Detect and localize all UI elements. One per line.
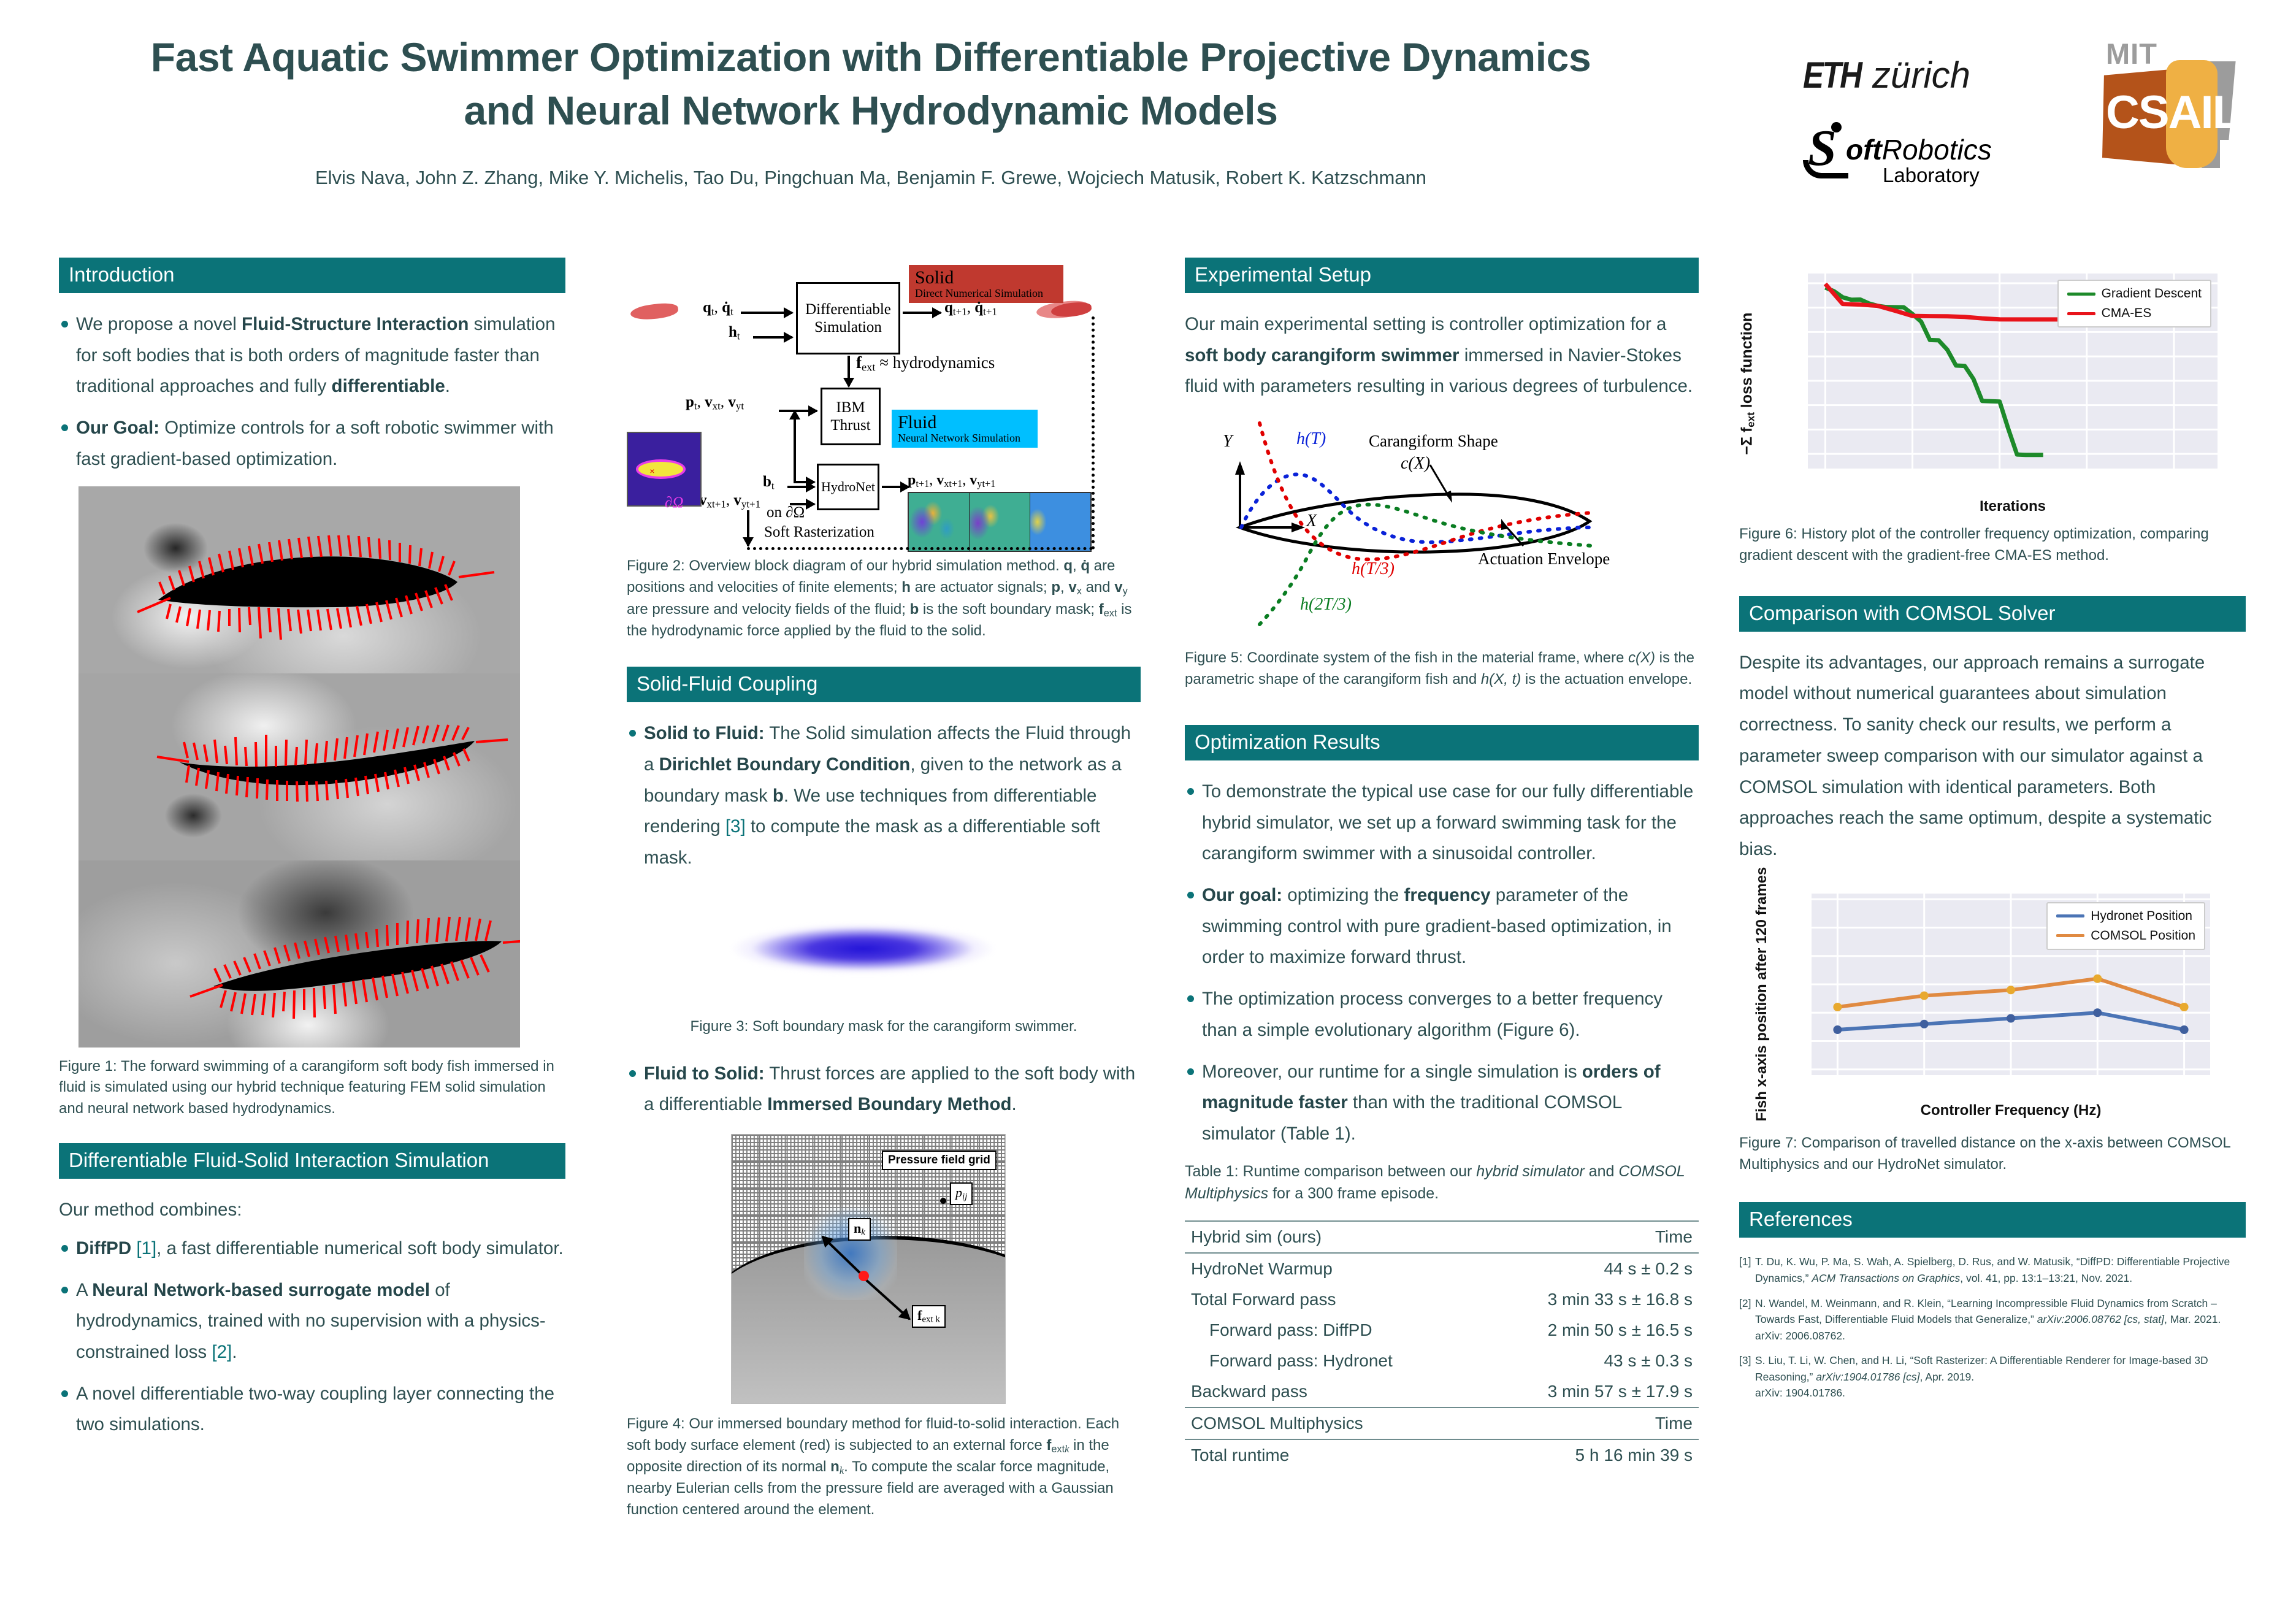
tag-solid-subtitle: Direct Numerical Simulation <box>915 288 1057 299</box>
table-cell-value: 5 h 16 min 39 s <box>1481 1439 1699 1471</box>
list-item: [1] T. Du, K. Wu, P. Ma, S. Wah, A. Spie… <box>1739 1254 2246 1286</box>
eth-zurich-logo: ETHzürich <box>1803 54 1970 96</box>
srl-s-glyph: S <box>1808 118 1837 178</box>
table-header-cell: COMSOL Multiphysics <box>1185 1408 1481 1439</box>
dfsi-bullets: DiffPD [1], a fast differentiable numeri… <box>59 1233 565 1441</box>
bullet-bold-2: frequency <box>1404 885 1491 905</box>
table-row: HydroNet Warmup 44 s ± 0.2 s <box>1185 1253 1699 1284</box>
ref-arxiv: arXiv: 2006.08762. <box>1755 1330 1845 1342</box>
legend-swatch <box>2056 914 2084 917</box>
label-h-2T-3: h(2T/3) <box>1300 595 1352 615</box>
section-heading-optresults: Optimization Results <box>1185 725 1699 760</box>
label-h-T-3: h(T/3) <box>1352 559 1395 579</box>
srl-wordmark: oftRobotics <box>1846 133 1992 166</box>
label-soft-rasterization: Soft Rasterization <box>764 524 874 541</box>
boundary-mask-image: × <box>627 432 702 507</box>
legend-swatch <box>2067 312 2095 315</box>
table-cell-label: Total runtime <box>1185 1439 1481 1471</box>
figure-1-image <box>78 486 520 1048</box>
legend-entry-hydronet: Hydronet Position <box>2056 909 2195 924</box>
reference-list: [1] T. Du, K. Wu, P. Ma, S. Wah, A. Spie… <box>1739 1254 2246 1401</box>
table-header-cell: Hybrid sim (ours) <box>1185 1221 1481 1253</box>
label-b-input: bt <box>763 473 775 492</box>
introduction-bullets: We propose a novel Fluid-Structure Inter… <box>59 309 565 475</box>
bullet-bold: Fluid to Solid: <box>644 1063 765 1084</box>
figure-7-legend: Hydronet Position COMSOL Position <box>2046 902 2205 950</box>
citation-link-1[interactable]: [1] <box>136 1238 156 1258</box>
label-h-input: ht <box>729 324 740 342</box>
box-differentiable-simulation: DifferentiableSimulation <box>796 282 900 354</box>
grid-title-label: Pressure field grid <box>882 1151 997 1170</box>
figure-6-ylabel: −Σ fext loss function <box>1738 286 1757 482</box>
figure-5-caption: Figure 5: Coordinate system of the fish … <box>1185 648 1699 691</box>
label-v-boundary: vxt+1, vyt+1 <box>699 492 760 510</box>
coupling-bullets-bottom: Fluid to Solid: Thrust forces are applie… <box>627 1059 1141 1120</box>
optresults-bullets: To demonstrate the typical use case for … <box>1185 776 1699 1150</box>
bullet-text-end: . <box>445 376 450 396</box>
table-cell-label: Total Forward pass <box>1185 1284 1481 1315</box>
label-domega: ∂Ω <box>665 494 683 511</box>
figure-6-xlabel: Iterations <box>1808 498 2218 515</box>
column-2: DifferentiableSimulation IBMThrust Hydro… <box>627 258 1141 1521</box>
list-item: Our Goal: Optimize controls for a soft r… <box>59 413 565 475</box>
figure-7-xlabel: Controller Frequency (Hz) <box>1812 1102 2210 1119</box>
legend-label: Gradient Descent <box>2102 286 2202 301</box>
ref-number: [2] <box>1739 1295 1751 1312</box>
bullet-bold: Solid to Fluid: <box>644 723 765 743</box>
bullet-text-post: . <box>232 1342 237 1362</box>
table-cell-label: Backward pass <box>1185 1376 1481 1408</box>
box-label: IBMThrust <box>830 399 870 435</box>
figure-4-caption: Figure 4: Our immersed boundary method f… <box>627 1414 1141 1521</box>
figure-3-caption: Figure 3: Soft boundary mask for the car… <box>627 1016 1141 1038</box>
bullet-bold-2: differentiable <box>332 376 445 396</box>
figure-7-plot-area: 100105110115120125130 23456 Hydronet Pos… <box>1812 894 2210 1075</box>
table-1-caption: Table 1: Runtime comparison between our … <box>1185 1160 1699 1205</box>
box-label: DifferentiableSimulation <box>805 301 891 337</box>
fluid-panel-vx <box>970 493 1030 551</box>
srl-subtitle: Laboratory <box>1883 164 1980 187</box>
table-header-cell: Time <box>1481 1408 1699 1439</box>
label-f-ext-k: fext k <box>912 1305 946 1328</box>
table-cell-value: 43 s ± 0.3 s <box>1481 1346 1699 1376</box>
figure-3-image <box>627 884 1141 1016</box>
figure-5-image: Y X h(T) h(T/3) h(2T/3) Carangiform Shap… <box>1185 418 1699 645</box>
arrow-soft-rasterization <box>747 510 749 546</box>
ref-arxiv: arXiv: 1904.01786. <box>1755 1387 1845 1399</box>
table-cell-label: Forward pass: DiffPD <box>1185 1315 1481 1346</box>
experimental-text: Our main experimental setting is control… <box>1185 309 1699 402</box>
arrow-hydronet-to-fluid <box>882 486 909 488</box>
box-hydronet: HydroNet <box>817 464 879 510</box>
tag-fluid-subtitle: Neural Network Simulation <box>898 432 1031 444</box>
bullet-bold-3: b <box>773 786 784 806</box>
label-pv-input: pt, vxt, vyt <box>686 394 744 412</box>
legend-label: Hydronet Position <box>2091 909 2192 924</box>
tag-solid: Solid Direct Numerical Simulation <box>909 265 1063 303</box>
label-fluid-outputs: pt+1, vxt+1, vyt+1 <box>908 472 995 490</box>
list-item: [2] N. Wandel, M. Weinmann, and R. Klein… <box>1739 1295 2246 1344</box>
label-fext-hydrodynamics: fext ≈ hydrodynamics <box>856 353 995 374</box>
arrow-diffsim-to-output <box>903 312 941 314</box>
fish-icon-input <box>630 302 679 321</box>
section-heading-dfsi: Differentiable Fluid-Solid Interaction S… <box>59 1143 565 1179</box>
list-item: Moreover, our runtime for a single simul… <box>1185 1057 1699 1150</box>
legend-swatch <box>2056 934 2084 937</box>
logo-group: ETHzürich S oftRobotics Laboratory MIT C… <box>1766 12 2275 215</box>
column-4: −Σ fext loss function −3.72−3.74−3.76−3.… <box>1739 258 2246 1410</box>
section-heading-coupling: Solid-Fluid Coupling <box>627 667 1141 702</box>
bullet-text-pre: A <box>76 1280 92 1300</box>
feedback-line-vertical <box>1092 316 1095 550</box>
label-p-ij: pij <box>950 1182 973 1205</box>
figure-2-diagram: DifferentiableSimulation IBMThrust Hydro… <box>627 258 1141 552</box>
bullet-bold: Fluid-Structure Interaction <box>242 314 469 334</box>
table-header-row-2: COMSOL Multiphysics Time <box>1185 1408 1699 1439</box>
citation-link-3[interactable]: [3] <box>725 816 746 837</box>
bullet-text: , a fast differentiable numerical soft b… <box>156 1238 564 1258</box>
list-item: [3] S. Liu, T. Li, W. Chen, and H. Li, “… <box>1739 1352 2246 1401</box>
pressure-sample-point <box>940 1198 946 1204</box>
coupling-bullets-top: Solid to Fluid: The Solid simulation aff… <box>627 718 1141 874</box>
table-header-cell: Time <box>1481 1221 1699 1253</box>
bullet-bold-2: Dirichlet Boundary Condition <box>659 754 911 775</box>
label-actuation-envelope: Actuation Envelope <box>1478 550 1610 569</box>
dfsi-lead-text: Our method combines: <box>59 1195 565 1226</box>
label-axis-X: X <box>1306 511 1317 531</box>
list-item: The optimization process converges to a … <box>1185 984 1699 1046</box>
poster-root: Fast Aquatic Swimmer Optimization with D… <box>0 0 2296 1624</box>
bullet-bold: Our Goal: <box>76 418 159 438</box>
table-cell-value: 44 s ± 0.2 s <box>1481 1253 1699 1284</box>
table-cell-label: HydroNet Warmup <box>1185 1253 1481 1284</box>
soft-boundary-mask-blob <box>719 903 1007 995</box>
csail-wordmark: CSAIL <box>2106 86 2235 139</box>
label-axis-Y: Y <box>1223 432 1233 451</box>
srl-robotics: Robotics <box>1882 134 1992 166</box>
fluid-panel-pressure <box>909 493 970 551</box>
figure-6-caption: Figure 6: History plot of the controller… <box>1739 524 2246 567</box>
eth-logo-bold: ETH <box>1803 54 1861 96</box>
label-carangiform-shape: Carangiform Shape <box>1369 432 1498 451</box>
bullet-text: A novel differentiable two-way coupling … <box>76 1384 554 1435</box>
table-row: Forward pass: DiffPD 2 min 50 s ± 16.5 s <box>1185 1315 1699 1346</box>
legend-swatch <box>2067 293 2095 296</box>
bullet-bold: Neural Network-based surrogate model <box>92 1280 430 1300</box>
label-h-T: h(T) <box>1296 429 1326 449</box>
fish-vectors-middle <box>78 673 520 860</box>
mask-center-marker: × <box>649 466 654 476</box>
arrow-fext-to-diffsim <box>848 356 850 386</box>
figure-6-chart: −Σ fext loss function −3.72−3.74−3.76−3.… <box>1739 258 2246 515</box>
table-header-row-1: Hybrid sim (ours) Time <box>1185 1221 1699 1253</box>
label-q-input: qt, q̇t <box>703 299 733 318</box>
fluid-field-panels <box>908 492 1092 552</box>
list-item: To demonstrate the typical use case for … <box>1185 776 1699 870</box>
arrow-b-to-hydronet <box>787 486 814 488</box>
label-on-omega: on ∂Ω <box>767 504 805 521</box>
table-row: Total runtime 5 h 16 min 39 s <box>1185 1439 1699 1471</box>
list-item: Fluid to Solid: Thrust forces are applie… <box>627 1059 1141 1120</box>
section-heading-introduction: Introduction <box>59 258 565 293</box>
fish-vectors-top <box>78 486 520 673</box>
legend-entry-gradient-descent: Gradient Descent <box>2067 286 2202 301</box>
figure-1-panel-bottom <box>78 860 520 1048</box>
bullet-bold: DiffPD <box>76 1238 131 1258</box>
table-row: Backward pass 3 min 57 s ± 17.9 s <box>1185 1376 1699 1408</box>
title-line-1: Fast Aquatic Swimmer Optimization with D… <box>55 31 1686 84</box>
mit-wordmark: MIT <box>2106 37 2157 71</box>
table-cell-label: Forward pass: Hydronet <box>1185 1346 1481 1376</box>
citation-link-2[interactable]: [2] <box>212 1342 232 1362</box>
list-item: A novel differentiable two-way coupling … <box>59 1379 565 1441</box>
figure-1-panel-middle <box>78 673 520 860</box>
title-line-2: and Neural Network Hydrodynamic Models <box>55 84 1686 137</box>
label-n-k: nk <box>848 1218 871 1241</box>
figure-1-panel-top <box>78 486 520 673</box>
box-ibm-thrust: IBMThrust <box>821 388 881 445</box>
list-item: DiffPD [1], a fast differentiable numeri… <box>59 1233 565 1265</box>
figure-2-caption: Figure 2: Overview block diagram of our … <box>627 556 1141 642</box>
section-heading-experimental: Experimental Setup <box>1185 258 1699 293</box>
list-item: Solid to Fluid: The Solid simulation aff… <box>627 718 1141 874</box>
table-row: Total Forward pass 3 min 33 s ± 16.8 s <box>1185 1284 1699 1315</box>
figure-7-ylabel: Fish x-axis position after 120 frames <box>1753 862 1770 1126</box>
feedback-line-horizontal <box>747 547 1093 550</box>
bullet-bold: Our goal: <box>1202 885 1282 905</box>
figure-6-plot-area: −3.72−3.74−3.76−3.78−3.80−3.82−3.84−3.86… <box>1808 274 2218 469</box>
runtime-comparison-table: Hybrid sim (ours) Time HydroNet Warmup 4… <box>1185 1220 1699 1471</box>
author-list: Elvis Nava, John Z. Zhang, Mike Y. Miche… <box>55 167 1686 189</box>
srl-oft: oft <box>1846 134 1882 166</box>
tag-solid-title: Solid <box>915 268 1057 288</box>
mit-csail-logo: MIT CSAIL <box>2097 31 2251 184</box>
list-item: We propose a novel Fluid-Structure Inter… <box>59 309 565 402</box>
tag-fluid: Fluid Neural Network Simulation <box>892 410 1038 448</box>
fish-vectors-bottom <box>78 860 520 1048</box>
section-heading-references: References <box>1739 1202 2246 1238</box>
comsol-text: Despite its advantages, our approach rem… <box>1739 648 2246 865</box>
legend-entry-comsol: COMSOL Position <box>2056 929 2195 943</box>
poster-header: Fast Aquatic Swimmer Optimization with D… <box>0 0 2296 245</box>
line-pv-branch <box>794 411 796 483</box>
tag-fluid-title: Fluid <box>898 413 1031 432</box>
table-cell-value: 3 min 33 s ± 16.8 s <box>1481 1284 1699 1315</box>
table-row: Forward pass: Hydronet 43 s ± 0.3 s <box>1185 1346 1699 1376</box>
mask-fish-shape <box>638 462 683 477</box>
surface-element-marker <box>859 1271 869 1281</box>
figure-4-image: Pressure field grid pij nk fext k <box>731 1134 1006 1404</box>
arrow-h-to-diffsim <box>753 336 792 339</box>
eth-logo-light: zürich <box>1872 54 1970 96</box>
legend-entry-cma-es: CMA-ES <box>2067 306 2202 321</box>
bullet-text: We propose a novel <box>76 314 242 334</box>
label-q-output: qt+1, q̇t+1 <box>944 299 997 318</box>
figure-6-legend: Gradient Descent CMA-ES <box>2057 280 2211 327</box>
legend-label: COMSOL Position <box>2091 929 2195 943</box>
fluid-panel-vy <box>1030 493 1090 551</box>
figure-1-caption: Figure 1: The forward swimming of a cara… <box>59 1056 565 1120</box>
table-cell-value: 2 min 50 s ± 16.5 s <box>1481 1315 1699 1346</box>
figure-7-chart: Fish x-axis position after 120 frames 10… <box>1739 881 2246 1127</box>
page-title: Fast Aquatic Swimmer Optimization with D… <box>55 31 1686 137</box>
list-item: A Neural Network-based surrogate model o… <box>59 1275 565 1368</box>
bullet-bold-2: Immersed Boundary Method <box>767 1094 1011 1114</box>
column-1: Introduction We propose a novel Fluid-St… <box>59 258 565 1451</box>
label-c-X: c(X) <box>1401 454 1430 473</box>
list-item: Our goal: optimizing the frequency param… <box>1185 880 1699 973</box>
column-3: Experimental Setup Our main experimental… <box>1185 258 1699 1471</box>
figure-7-caption: Figure 7: Comparison of travelled distan… <box>1739 1133 2246 1176</box>
arrow-q-to-diffsim <box>741 312 792 314</box>
section-heading-comsol: Comparison with COMSOL Solver <box>1739 596 2246 632</box>
ref-number: [3] <box>1739 1352 1751 1369</box>
legend-label: CMA-ES <box>2102 306 2152 321</box>
ref-number: [1] <box>1739 1254 1751 1270</box>
box-label: HydroNet <box>821 479 875 495</box>
table-cell-value: 3 min 57 s ± 17.9 s <box>1481 1376 1699 1408</box>
